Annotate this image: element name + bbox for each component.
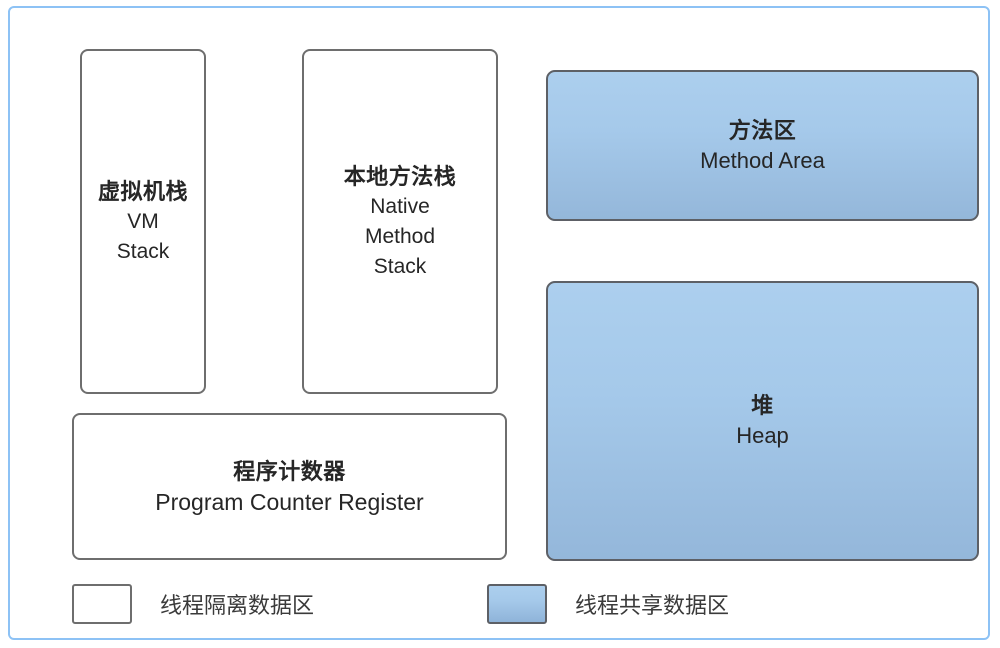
method-area-label-en: Method Area [700,146,825,176]
legend-swatch-blue-icon [487,584,547,624]
legend-label-thread-shared: 线程共享数据区 [575,588,729,620]
diagram-canvas: 虚拟机栈 VM Stack 本地方法栈 Native Method Stack … [0,0,1000,648]
vm-stack-label-en-line1: VM [127,207,159,237]
native-method-stack-label-en-line1: Native [370,192,430,222]
method-area-label-cn: 方法区 [729,116,797,146]
legend-swatch-white-icon [72,584,132,624]
heap-label-en: Heap [736,421,789,451]
vm-stack-label-cn: 虚拟机栈 [98,177,188,207]
method-area-box[interactable]: 方法区 Method Area [546,70,979,221]
program-counter-label-en: Program Counter Register [155,487,423,517]
program-counter-label-cn: 程序计数器 [233,457,346,487]
legend-item-thread-shared: 线程共享数据区 [487,584,729,624]
legend-item-thread-isolated: 线程隔离数据区 [72,584,314,624]
legend: 线程隔离数据区 线程共享数据区 [72,584,952,628]
vm-stack-label-en-line2: Stack [117,237,170,267]
vm-stack-box[interactable]: 虚拟机栈 VM Stack [80,49,206,394]
legend-label-thread-isolated: 线程隔离数据区 [160,588,314,620]
heap-label-cn: 堆 [751,391,774,421]
program-counter-register-box[interactable]: 程序计数器 Program Counter Register [72,413,507,560]
native-method-stack-label-en-line3: Stack [374,252,427,282]
native-method-stack-box[interactable]: 本地方法栈 Native Method Stack [302,49,498,394]
heap-box[interactable]: 堆 Heap [546,281,979,561]
diagram-outer-frame: 虚拟机栈 VM Stack 本地方法栈 Native Method Stack … [8,6,990,640]
native-method-stack-label-en-line2: Method [365,222,435,252]
native-method-stack-label-cn: 本地方法栈 [344,162,457,192]
